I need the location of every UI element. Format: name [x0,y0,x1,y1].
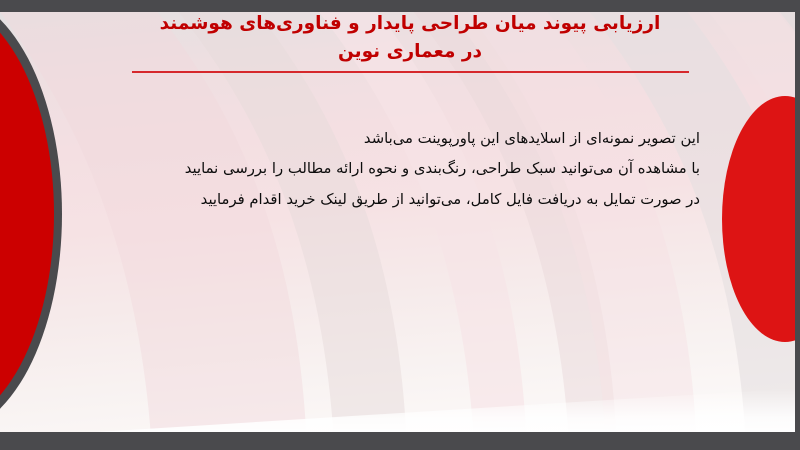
title-underline-rule [132,71,689,73]
body-line-1: این تصویر نمونه‌ای از اسلایدهای این پاور… [100,124,700,154]
body-line-2: با مشاهده آن می‌توانید سبک طراحی، رنگ‌بن… [100,154,700,184]
title-block: ارزیابی پیوند میان طراحی پایدار و فناوری… [110,10,710,73]
body-line-3: در صورت تمایل به دریافت فایل کامل، می‌تو… [100,185,700,215]
slide-content: ارزیابی پیوند میان طراحی پایدار و فناوری… [0,0,800,450]
presentation-slide: ارزیابی پیوند میان طراحی پایدار و فناوری… [0,0,800,450]
body-text-block: این تصویر نمونه‌ای از اسلایدهای این پاور… [100,124,700,215]
slide-title: ارزیابی پیوند میان طراحی پایدار و فناوری… [110,10,710,66]
